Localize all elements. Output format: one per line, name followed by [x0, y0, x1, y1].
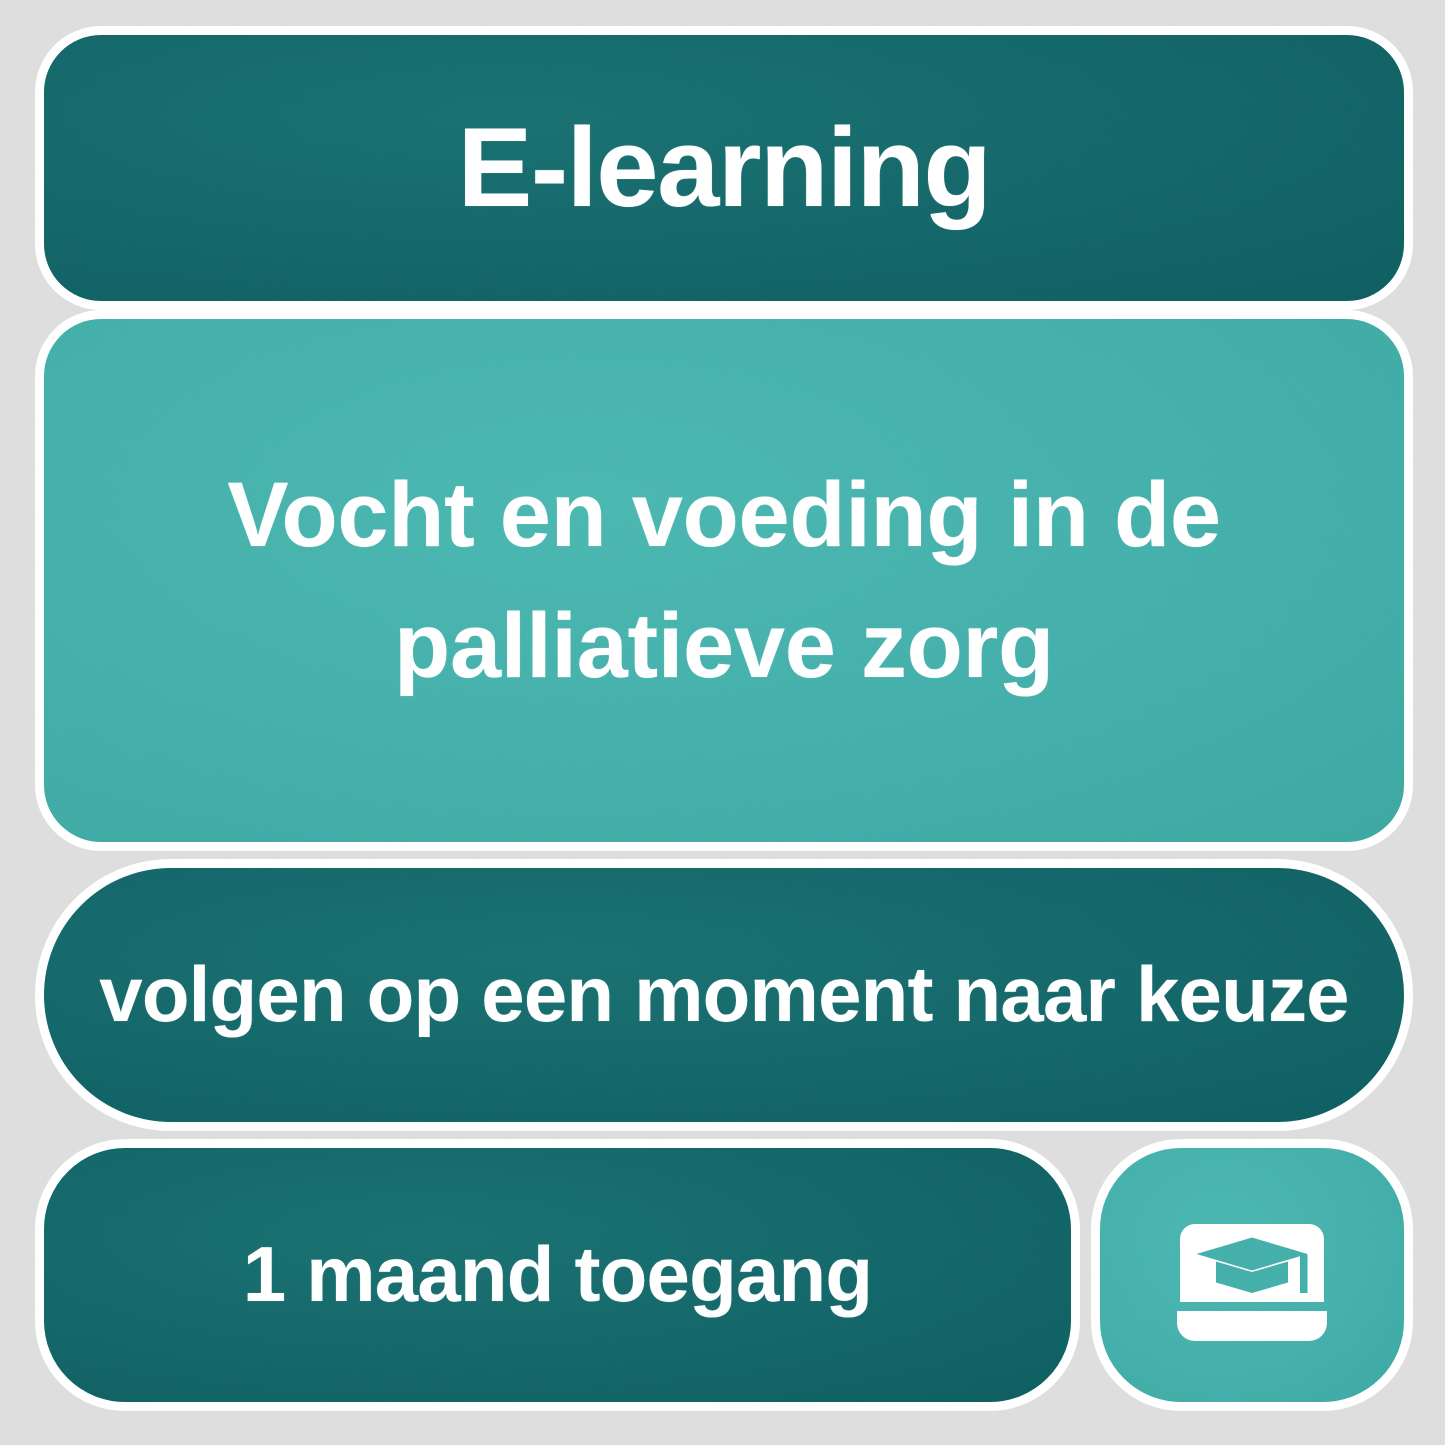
laptop-graduation-cap-icon [1162, 1195, 1342, 1355]
card-flexibility-label: volgen op een moment naar keuze [81, 947, 1367, 1042]
promo-card-stack: E-learning Vocht en voeding in de pallia… [0, 0, 1445, 1445]
card-course-subject-label: Vocht en voeding in de palliatieve zorg [209, 450, 1239, 711]
course-subject-line-2: palliatieve zorg [394, 595, 1054, 697]
card-access-duration-label: 1 maand toegang [225, 1227, 890, 1322]
card-title-label: E-learning [440, 100, 1009, 237]
card-icon-tile [1091, 1139, 1413, 1411]
course-subject-line-1: Vocht en voeding in de [227, 464, 1221, 566]
card-title: E-learning [35, 26, 1413, 310]
card-course-subject: Vocht en voeding in de palliatieve zorg [35, 310, 1413, 851]
card-access-duration: 1 maand toegang [35, 1139, 1080, 1411]
card-flexibility: volgen op een moment naar keuze [35, 859, 1413, 1131]
